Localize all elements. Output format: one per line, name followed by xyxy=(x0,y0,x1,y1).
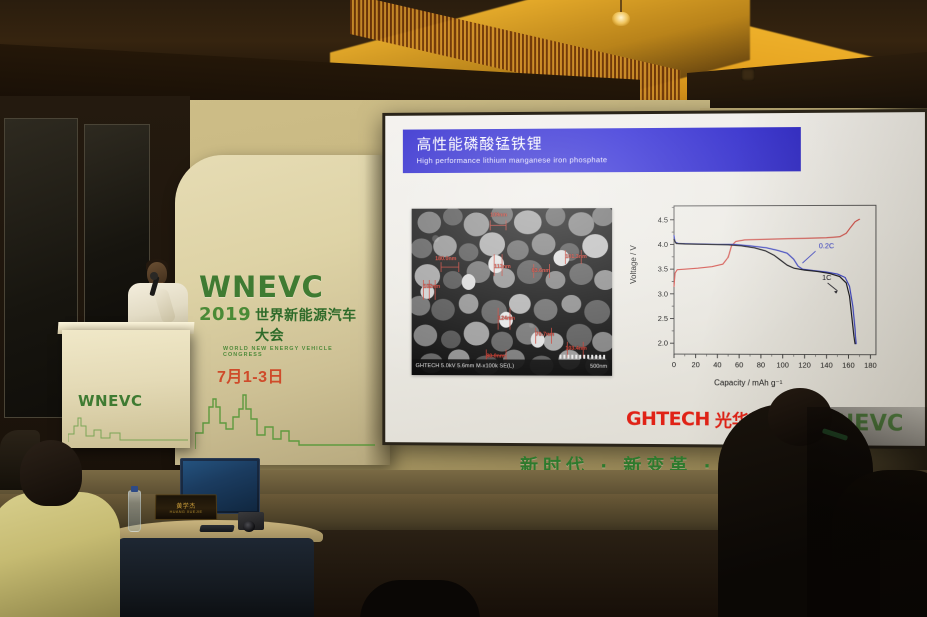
voltage-capacity-chart: 2.02.53.03.54.04.50204060801001201401601… xyxy=(628,201,902,403)
chart-annotation: 1C xyxy=(822,274,831,282)
wnevc-subline: 2019 世界新能源汽车大会 xyxy=(199,304,369,345)
chart-x-tick-label: 80 xyxy=(757,360,765,369)
sem-annotation: 180.0nm xyxy=(435,256,456,262)
nameplate-name-en: HUANG XUEJIE xyxy=(156,510,216,514)
sem-annotation: 103.4nm xyxy=(565,346,586,352)
chart-y-tick-label: 3.0 xyxy=(658,289,668,298)
audience-member-yellow-shirt xyxy=(0,492,120,617)
wnevc-date: 7月1-3日 xyxy=(217,363,369,387)
water-bottle xyxy=(128,490,141,532)
chart-y-tick-label: 4.0 xyxy=(658,240,668,249)
camera-lens-icon xyxy=(243,521,255,532)
sem-caption-left: GHTECH 5.0kV 5.6mm M-x100k SE(L) xyxy=(416,363,515,369)
wnevc-congress-en: WORLD NEW ENERGY VEHICLE CONGRESS xyxy=(223,346,369,358)
podium-logo: WNEVC xyxy=(78,392,142,410)
sem-annotation: 124nm xyxy=(498,316,515,322)
chart-x-tick-label: 60 xyxy=(735,360,743,369)
chart-y-tick-label: 2.0 xyxy=(658,339,668,348)
chart-y-tick-label: 4.5 xyxy=(658,215,668,224)
sem-info-bar: GHTECH 5.0kV 5.6mm M-x100k SE(L) 500nm xyxy=(412,359,612,376)
wnevc-logo-lockup: WNEVC 2019 世界新能源汽车大会 WORLD NEW ENERGY VE… xyxy=(199,273,369,387)
wall-speaker-icon xyxy=(741,68,755,81)
chart-series-charge xyxy=(674,219,859,286)
wnevc-congress-cn: 世界新能源汽车大会 xyxy=(255,305,369,345)
sem-annotation: 83.6nm xyxy=(532,268,550,274)
sem-caption-right: 500nm xyxy=(590,364,607,370)
nameplate: 黄学杰 HUANG XUEJIE xyxy=(155,494,218,520)
chart-y-tick-label: 3.5 xyxy=(658,265,668,274)
chart-x-tick-label: 40 xyxy=(713,360,721,369)
skyline-graphic-icon xyxy=(195,389,375,451)
slide-title-bar: 高性能磷酸锰铁锂 High performance lithium mangan… xyxy=(403,127,801,173)
podium-skyline-icon xyxy=(68,414,188,444)
chart-series-discharge-0.2C xyxy=(674,235,856,343)
wnevc-backdrop-panel: WNEVC 2019 世界新能源汽车大会 WORLD NEW ENERGY VE… xyxy=(175,155,390,465)
chart-x-tick-label: 180 xyxy=(864,361,877,370)
slide-title-en: High performance lithium manganese iron … xyxy=(417,155,608,165)
chart-x-tick-label: 160 xyxy=(842,361,855,370)
sem-scale-bar xyxy=(559,355,607,359)
head-table-skirt xyxy=(118,538,314,617)
sem-annotation: 70.7nm xyxy=(536,332,554,338)
sem-annotation: 101.3nm xyxy=(565,254,586,260)
wnevc-wordmark: WNEVC xyxy=(199,273,369,302)
chart-x-tick-label: 120 xyxy=(798,360,810,369)
sem-annotation: 113nm xyxy=(494,264,511,270)
chart-x-tick-label: 20 xyxy=(692,360,700,369)
sem-annotation: 109nm xyxy=(490,212,507,218)
chart-x-tick-label: 100 xyxy=(777,360,789,369)
pendant-light xyxy=(612,12,630,26)
podium: WNEVC xyxy=(62,330,190,448)
chart-x-axis-label: Capacity / mAh g⁻¹ xyxy=(714,378,782,387)
chart-y-axis-label: Voltage / V xyxy=(629,245,638,284)
projected-slide: 高性能磷酸锰铁锂 High performance lithium mangan… xyxy=(385,112,925,446)
tablet-device xyxy=(199,525,234,532)
chart-svg: 2.02.53.03.54.04.50204060801001201401601… xyxy=(628,201,902,403)
ghtech-logo-en: GHTECH xyxy=(626,407,710,430)
conference-photo-scene: WNEVC 2019 世界新能源汽车大会 WORLD NEW ENERGY VE… xyxy=(0,0,927,617)
sem-micrograph: 109nm 180.0nm 102nm 113nm 83.6nm 101.3nm… xyxy=(412,208,612,376)
water-bottle-cap xyxy=(131,486,138,492)
chart-x-tick-label: 140 xyxy=(820,361,833,370)
nameplate-name-cn: 黄学杰 xyxy=(156,501,216,510)
projection-screen-frame: 高性能磷酸锰铁锂 High performance lithium mangan… xyxy=(382,109,927,449)
chart-annotation: 0.2C xyxy=(819,242,834,250)
chart-x-tick-label: 0 xyxy=(672,360,676,369)
audience-member-yellow-head xyxy=(20,440,82,506)
sem-annotation: 102nm xyxy=(423,284,440,290)
foreground-shadow-right xyxy=(807,407,927,617)
slide-title-cn: 高性能磷酸锰铁锂 xyxy=(417,133,543,155)
microphone-head-icon xyxy=(150,272,158,280)
wnevc-year: 2019 xyxy=(199,304,251,325)
chart-series-discharge-1C xyxy=(674,239,855,343)
chart-y-tick-label: 2.5 xyxy=(658,314,668,323)
